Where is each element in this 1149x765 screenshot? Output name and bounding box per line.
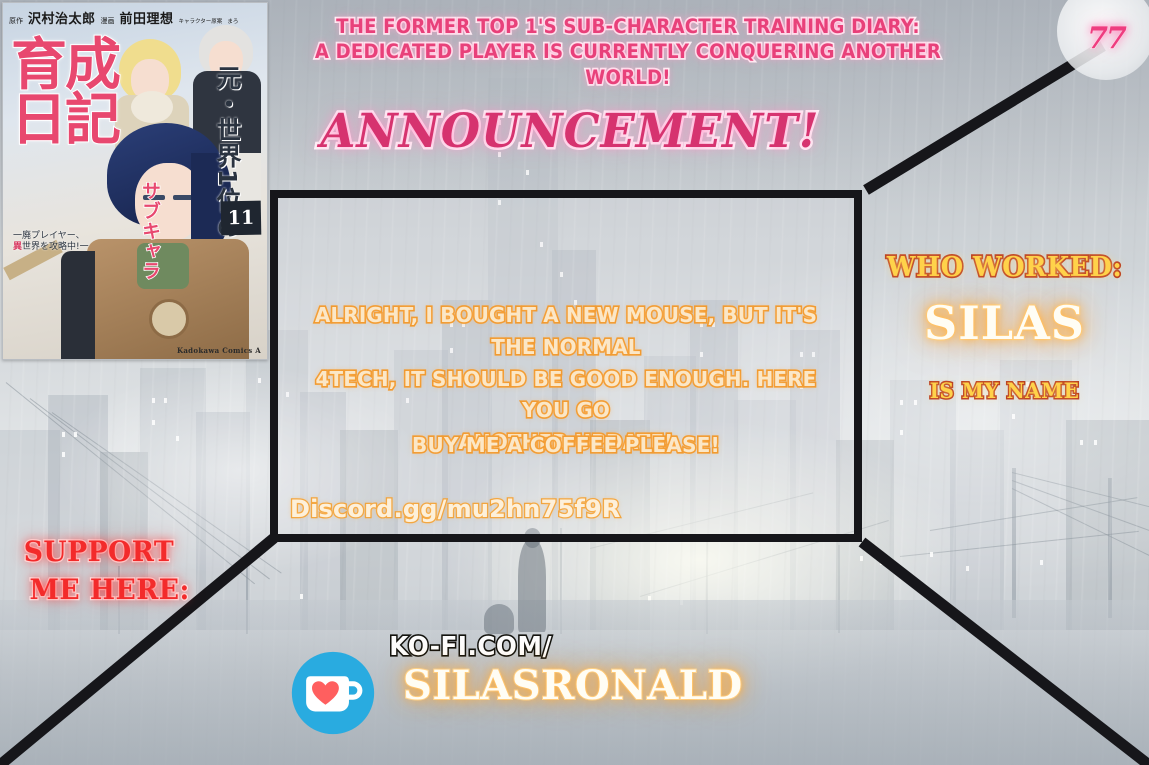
credited-name: SILAS	[860, 296, 1149, 350]
volume-cover-thumbnail: 原作 沢村治太郎 漫画 前田理想 キャラクター原案 まろ 元・世界1位の 育成日…	[2, 2, 268, 360]
cover-role-design: キャラクター原案	[179, 17, 223, 25]
kofi-url[interactable]: KO-FI.COM/	[389, 632, 552, 662]
series-title-line-2: A DEDICATED PLAYER IS CURRENTLY CONQUERI…	[293, 39, 963, 90]
announcement-heading: ANNOUNCEMENT!	[263, 104, 877, 159]
who-worked-label: WHO WORKED:	[867, 252, 1142, 283]
cover-designer-name: まろ	[227, 17, 238, 25]
kofi-logo-icon[interactable]	[291, 651, 375, 735]
kofi-handle[interactable]: SILASRONALD	[403, 662, 743, 709]
buy-me-a-coffee-text: BUY ME A COFFEE PLEASE!	[294, 433, 837, 457]
announcement-body-line-2: 4TECH, IT SHOULD BE GOOD ENOUGH. HERE YO…	[294, 364, 837, 428]
cover-role-art: 漫画	[101, 16, 115, 26]
series-title-line-1: THE FORMER TOP 1'S SUB-CHARACTER TRAININ…	[293, 14, 963, 39]
cover-credits: 原作 沢村治太郎 漫画 前田理想 キャラクター原案 まろ	[9, 8, 263, 27]
cover-role-author: 原作	[9, 16, 23, 26]
discord-link[interactable]: Discord.gg/mu2hn75f9R	[290, 495, 621, 523]
cover-artist-name: 前田理想	[120, 8, 174, 27]
series-title: THE FORMER TOP 1'S SUB-CHARACTER TRAININ…	[293, 14, 963, 90]
cover-title-main: 育成日記	[11, 39, 129, 149]
manga-announcement-page: 原作 沢村治太郎 漫画 前田理想 キャラクター原案 まろ 元・世界1位の 育成日…	[0, 0, 1149, 765]
support-line-2: ME HERE:	[24, 571, 243, 609]
cover-volume-number: 11	[221, 201, 262, 236]
support-me-here-label: SUPPORT ME HERE:	[24, 533, 243, 609]
is-my-name-label: IS MY NAME	[867, 378, 1142, 403]
cover-tagline-highlight: 異	[13, 242, 22, 252]
cover-tagline-post: 世界を攻略中!一	[22, 242, 89, 252]
announcement-body-line-1: ALRIGHT, I BOUGHT A NEW MOUSE, BUT IT'S …	[294, 300, 837, 364]
cover-imprint: Kadokawa Comics A	[177, 346, 261, 355]
support-line-1: SUPPORT	[24, 535, 174, 568]
cover-tagline: 一廃プレイヤー、 異世界を攻略中!一	[13, 231, 89, 254]
cover-author-name: 沢村治太郎	[28, 8, 96, 27]
cover-tagline-pre: 一廃プレイヤー、	[13, 231, 85, 241]
page-number: 77	[1087, 21, 1125, 56]
cover-subtitle-badge: サブキャラ	[137, 181, 164, 281]
